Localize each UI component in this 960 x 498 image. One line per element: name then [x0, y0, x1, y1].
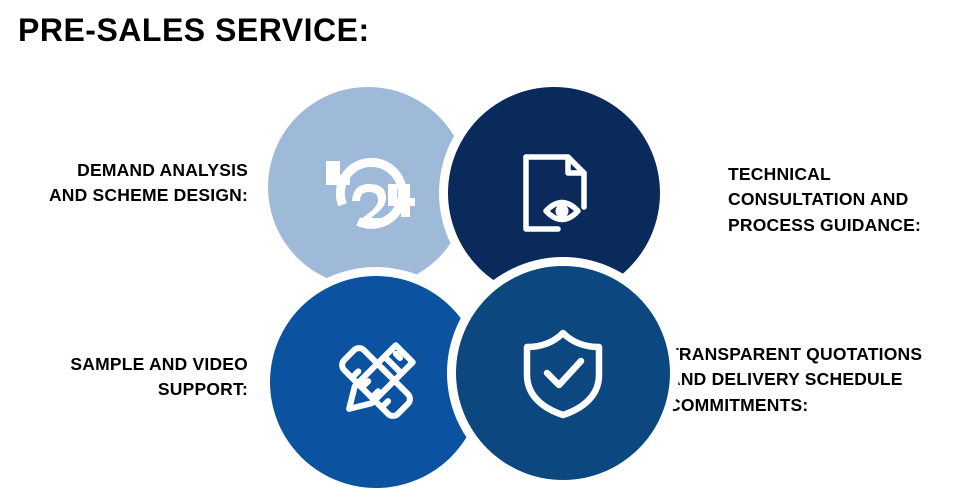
- label-sample-video-support: SAMPLE AND VIDEO SUPPORT:: [18, 352, 248, 403]
- circle-cluster: [258, 78, 682, 490]
- page-title: PRE-SALES SERVICE:: [18, 12, 370, 49]
- pencil-ruler-icon: [326, 332, 426, 432]
- circle-transparent-quotations[interactable]: [456, 266, 670, 480]
- shield-check-icon: [517, 325, 609, 421]
- 24-hour-rotate-icon: [316, 139, 420, 235]
- label-transparent-quotations: TRANSPARENT QUOTATIONS AND DELIVERY SCHE…: [668, 342, 960, 418]
- infographic-canvas: PRE-SALES SERVICE:: [0, 0, 960, 498]
- circle-sample-video-support[interactable]: [270, 276, 482, 488]
- document-eye-icon: [506, 145, 602, 241]
- circle-demand-analysis[interactable]: [268, 87, 468, 287]
- label-technical-consultation: TECHNICAL CONSULTATION AND PROCESS GUIDA…: [728, 162, 960, 238]
- label-demand-analysis: DEMAND ANALYSIS AND SCHEME DESIGN:: [18, 158, 248, 209]
